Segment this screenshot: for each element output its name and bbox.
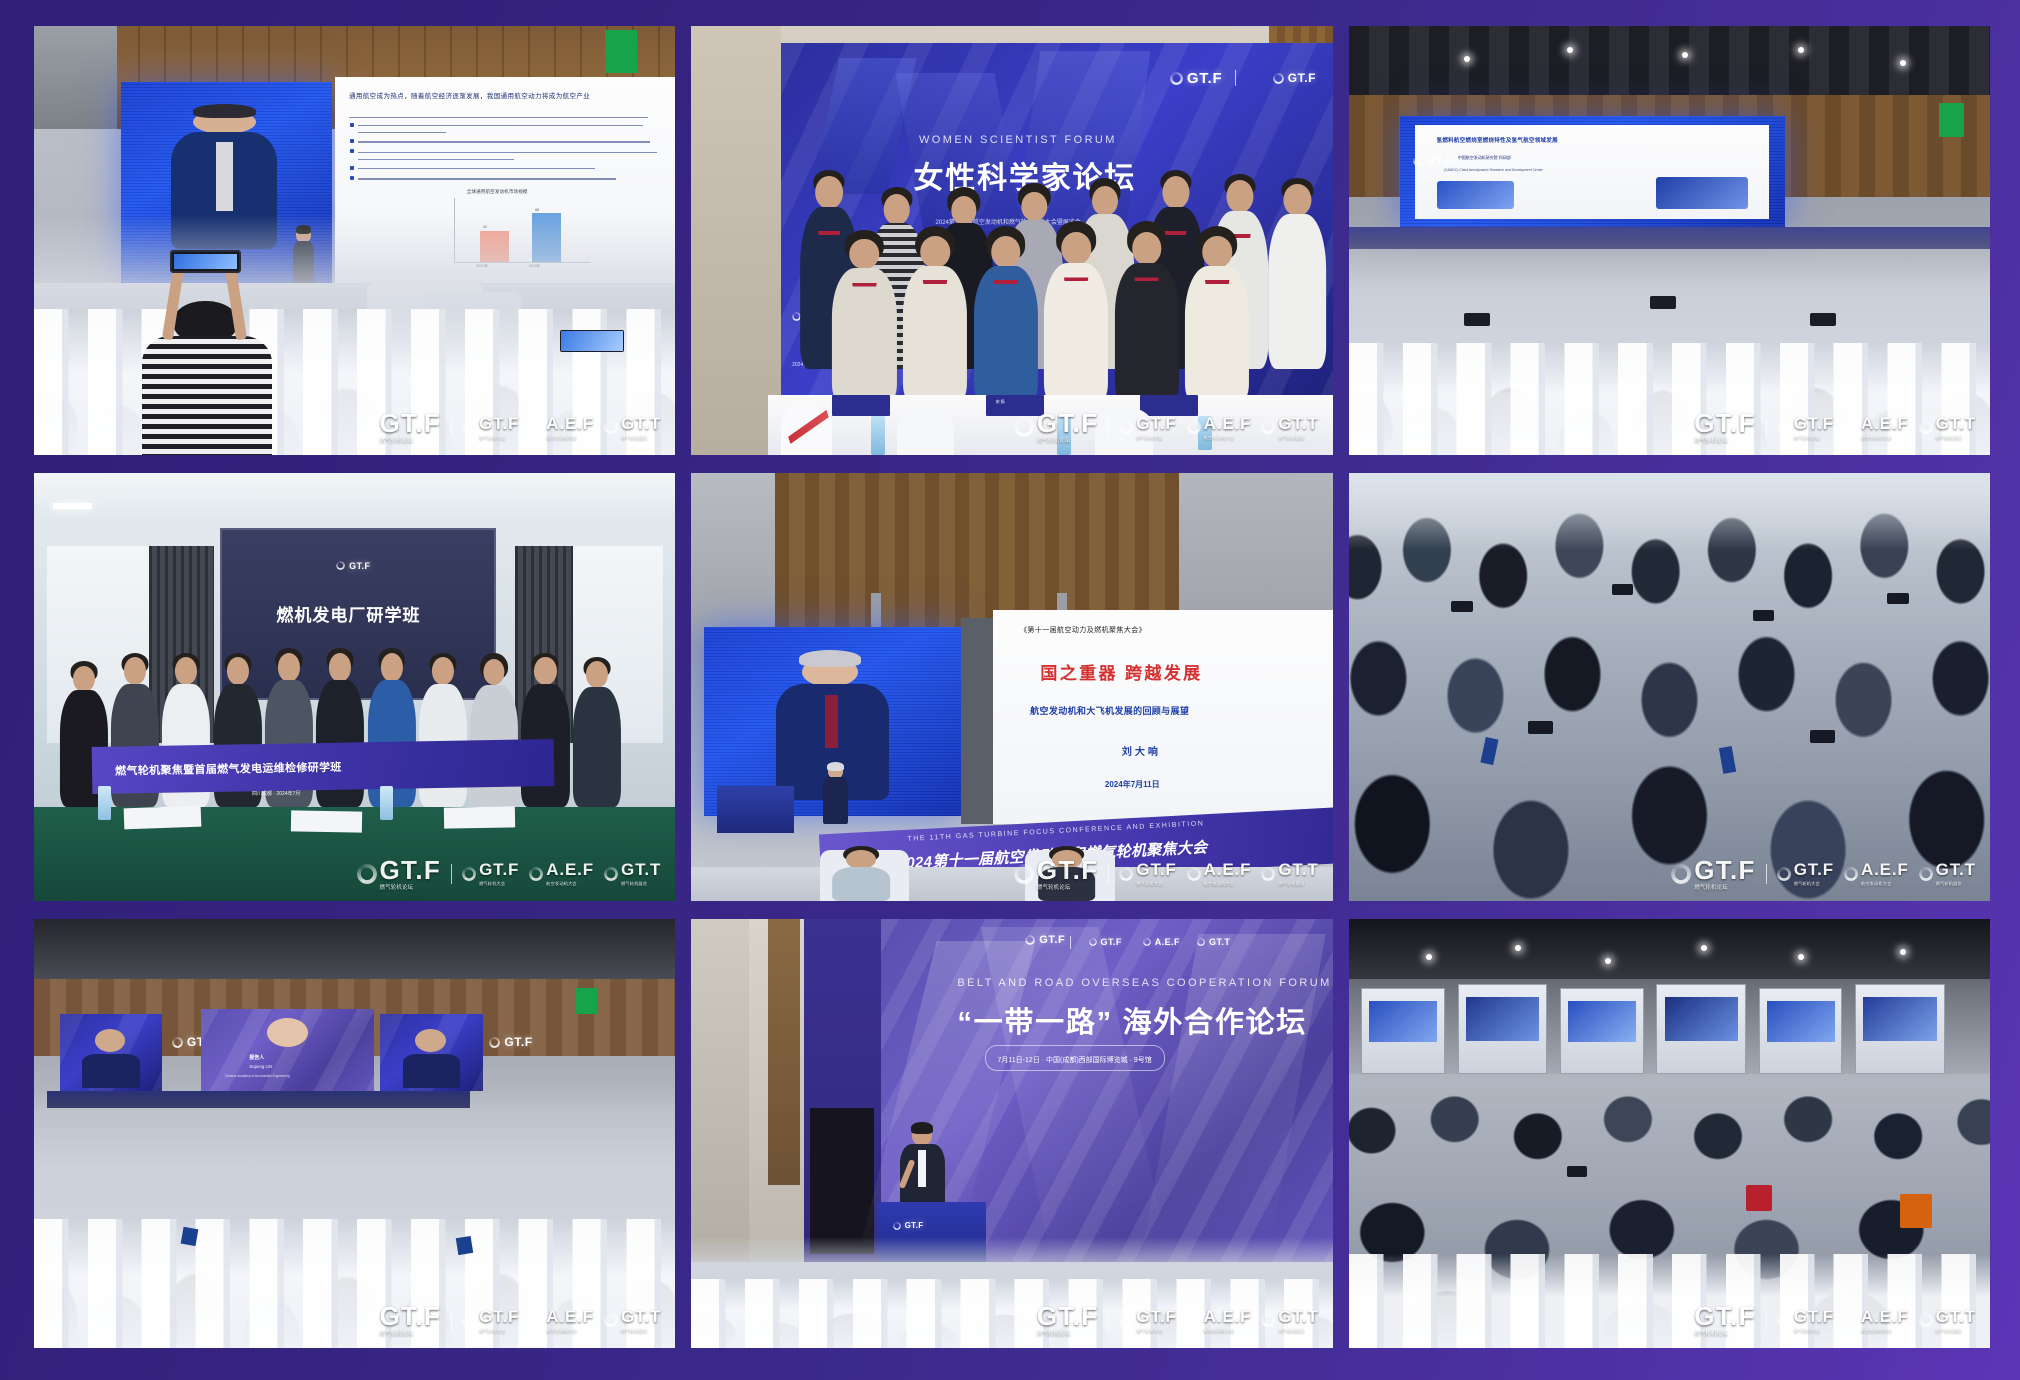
logo-subtext: 燃气轮机大会 — [479, 1329, 519, 1333]
logo-gtt: GT.T 燃气轮机展览 — [604, 861, 661, 886]
gtt-swoosh-icon — [1261, 867, 1275, 881]
logo-subtext: 燃气轮机展览 — [1936, 436, 1976, 440]
logo-subtext: 燃气轮机论坛 — [1694, 886, 1756, 891]
logo-gtt: GT.T 燃气轮机展览 — [1261, 415, 1318, 440]
photo-tile-7[interactable]: GT.F 报告人 Supeng LIN Chinese Academy of A… — [34, 919, 675, 1348]
slide-latin-line: (CAMDC) China Aerodynamic Research and D… — [1444, 168, 1543, 172]
aef-swoosh-icon — [1844, 1313, 1858, 1327]
logo-text: GT.T — [621, 860, 661, 879]
speaker-affiliation: Chinese Academy of Aeronautics Engineeri… — [225, 1074, 290, 1078]
logo-subtext: 燃气轮机大会 — [1136, 1329, 1176, 1333]
logo-subtext: 燃气轮机大会 — [1136, 882, 1176, 886]
logo-divider — [1108, 1311, 1109, 1331]
logo-subtext: 燃气轮机论坛 — [1037, 1332, 1099, 1337]
gtf-swoosh-icon — [357, 417, 377, 437]
podium — [717, 786, 794, 833]
group-person-front — [903, 227, 967, 403]
phone-screen — [560, 330, 624, 351]
led-logo: GT.F — [1413, 155, 1453, 167]
logo-subtext: 燃气轮机论坛 — [1037, 439, 1099, 444]
phone-screen — [1887, 593, 1909, 604]
poster-board — [1458, 984, 1548, 1074]
backdrop-logo-gtf: GT.F — [1025, 934, 1065, 946]
document — [444, 806, 515, 829]
phone-screen — [170, 250, 241, 274]
logo-subtext: 燃气轮机论坛 — [1694, 1332, 1756, 1337]
gtf-swoosh-icon — [357, 1311, 377, 1331]
logo-text: GT.F — [1288, 71, 1316, 85]
phone-screen — [1528, 721, 1552, 734]
logo-text: GT.F — [1039, 934, 1065, 946]
slide-subtitle: 中国航空发动机研究院 科研部 — [1458, 155, 1511, 161]
logo-gtf-primary: GT.F 燃气轮机论坛 — [1671, 410, 1756, 444]
logo-aef: A.E.F 航空发动机大会 — [529, 1308, 594, 1333]
nameplate — [832, 395, 890, 416]
slide-speaker: 刘大响 — [1122, 743, 1161, 758]
logo-text: GT.F — [1794, 1307, 1834, 1326]
gtf-swoosh-icon — [1777, 867, 1791, 881]
keynote-slide: 《第十一届航空动力及燃机聚焦大会》 国之重器 跨越发展 航空发动机和大飞机发展的… — [993, 610, 1333, 824]
logo-gtf: GT.F 燃气轮机大会 — [462, 1308, 519, 1333]
logo-subtext: 燃气轮机大会 — [479, 436, 519, 440]
logo-divider — [1766, 1311, 1767, 1331]
slide-heading: 通用航空成为热点，随着航空经济逐渐发展，我国通用航空动力将成为航空产业 — [349, 90, 590, 100]
logo-subtext: 燃气轮机大会 — [1794, 436, 1834, 440]
forum-meta-pill: 7月11日-12日 · 中国(成都)西部国际博览城 · 9号馆 — [985, 1045, 1165, 1071]
logo-text: GT.F — [1136, 414, 1176, 433]
logo-aef: A.E.F 航空发动机大会 — [1844, 415, 1909, 440]
logo-gtf: GT.F 燃气轮机大会 — [1119, 1308, 1176, 1333]
logo-gtt: GT.T 燃气轮机展览 — [1919, 861, 1976, 886]
logo-divider — [451, 1311, 452, 1331]
backdrop-logo-gtf-2: GT.F — [1089, 937, 1122, 947]
photo-3-scene: 氢燃料航空燃烧室燃烧特性及氢气航空领域发展 中国航空发动机研究院 科研部 (CA… — [1349, 26, 1990, 455]
poster-board — [1759, 988, 1842, 1074]
logo-text: GT.F — [1427, 155, 1453, 167]
logo-aef: A.E.F 航空发动机大会 — [1187, 415, 1252, 440]
lanyard-badge — [180, 1227, 198, 1247]
logo-text: GT.T — [1936, 860, 1976, 879]
group-person — [573, 657, 621, 807]
logo-text: GT.F — [349, 561, 370, 571]
gtf-swoosh-icon — [462, 867, 476, 881]
logo-text: GT.T — [1936, 1307, 1976, 1326]
photo-9-scene — [1349, 919, 1990, 1348]
gtf-swoosh-icon — [1014, 417, 1034, 437]
logo-subtext: 燃气轮机展览 — [621, 882, 661, 886]
photo-tile-3[interactable]: 氢燃料航空燃烧室燃烧特性及氢气航空领域发展 中国航空发动机研究院 科研部 (CA… — [1349, 26, 1990, 455]
logo-gtf-primary: GT.F 燃气轮机论坛 — [1014, 410, 1099, 444]
logo-gtt: GT.T 燃气轮机展览 — [1261, 861, 1318, 886]
led-logo: GT.F — [489, 1035, 532, 1049]
attendee-bag — [1746, 1185, 1772, 1211]
logo-subtext: 燃气轮机大会 — [1794, 1329, 1834, 1333]
logo-aef: A.E.F 航空发动机大会 — [529, 861, 594, 886]
logo-aef: A.E.F 航空发动机大会 — [1187, 1308, 1252, 1333]
logo-text: GT.F — [1694, 1301, 1756, 1331]
logo-subtext: 航空发动机大会 — [546, 882, 594, 886]
logo-text: GT.F — [380, 1301, 442, 1331]
backdrop-logo-gtf: GT.F — [1170, 70, 1223, 87]
banner-title: 燃气轮机聚焦暨首届燃气发电运维检修研学班 — [92, 758, 342, 778]
backdrop-logo-gtf-2: GT.F — [1273, 71, 1316, 85]
speaker-name-cn: 报告人 — [249, 1054, 264, 1061]
slide-bracket-title: 《第十一届航空动力及燃机聚焦大会》 — [1020, 625, 1146, 635]
logo-text: A.E.F — [546, 414, 594, 433]
poster-board — [1560, 988, 1643, 1074]
logo-subtext: 航空发动机大会 — [1204, 436, 1252, 440]
stage-speaker — [820, 764, 852, 824]
logo-text: A.E.F — [1861, 1307, 1909, 1326]
slide-date: 2024年7月11日 — [1105, 779, 1160, 790]
aef-swoosh-icon — [1844, 867, 1858, 881]
wall-panel — [691, 26, 781, 455]
gtf-swoosh-icon — [1014, 864, 1034, 884]
watermark-logos: GT.F 燃气轮机论坛 GT.F 燃气轮机大会 A.E.F 航空发动机大会 GT… — [357, 857, 662, 891]
led-right — [380, 1014, 483, 1091]
gtf-swoosh-icon — [1119, 420, 1133, 434]
logo-subtext: 燃气轮机论坛 — [380, 1332, 442, 1337]
photo-4-scene: GT.F 燃机发电厂研学班 — [34, 473, 675, 902]
watermark-logos: GT.F 燃气轮机论坛 GT.F 燃气轮机大会 A.E.F 航空发动机大会 GT… — [1014, 857, 1319, 891]
gtt-swoosh-icon — [1919, 420, 1933, 434]
photo-tile-2[interactable]: GT.F GT.F WOMEN SCIENTIST FORUM 女性科学家论坛 … — [691, 26, 1332, 455]
logo-divider — [1766, 864, 1767, 884]
podium-logo: GT.F — [893, 1221, 924, 1230]
backdrop-logo-gtt: GT.T — [1197, 937, 1230, 947]
backdrop-logo-aef: A.E.F — [1143, 937, 1180, 947]
group-person-front — [832, 232, 896, 403]
aef-swoosh-icon — [1187, 420, 1201, 434]
gtf-swoosh-icon — [1671, 864, 1691, 884]
gtf-swoosh-icon — [1119, 867, 1133, 881]
nameplate-text: 宋 扬 — [996, 399, 1005, 405]
logo-subtext: 燃气轮机展览 — [1278, 882, 1318, 886]
logo-subtext: 燃气轮机展览 — [1278, 436, 1318, 440]
logo-gtt: GT.T 燃气轮机展览 — [1261, 1308, 1318, 1333]
logo-gtf-primary: GT.F 燃气轮机论坛 — [1014, 1303, 1099, 1337]
gtf-swoosh-icon — [462, 1313, 476, 1327]
logo-text: A.E.F — [1861, 414, 1909, 433]
group-person-front — [974, 227, 1038, 403]
logo-text: GT.F — [1136, 860, 1176, 879]
logo-gtf: GT.F 燃气轮机大会 — [1119, 861, 1176, 886]
phone-screen — [1650, 296, 1676, 309]
logo-text: GT.F — [380, 855, 442, 885]
logo-subtext: 燃气轮机论坛 — [380, 439, 442, 444]
phone-screen — [1451, 601, 1473, 612]
water-bottle — [380, 786, 393, 820]
logo-subtext: 燃气轮机展览 — [621, 1329, 661, 1333]
aef-swoosh-icon — [1187, 867, 1201, 881]
logo-gtt: GT.T 燃气轮机展览 — [604, 415, 661, 440]
logo-text: GT.F — [1187, 70, 1223, 87]
logo-gtt: GT.T 燃气轮机展览 — [604, 1308, 661, 1333]
logo-subtext: 航空发动机大会 — [1861, 1329, 1909, 1333]
gtt-swoosh-icon — [604, 1313, 618, 1327]
photo-5-scene: GT.F 《第十一届航空动力及燃机聚焦大会》 国之重器 跨越发展 航空发动机和大… — [691, 473, 1332, 902]
logo-divider — [1070, 936, 1071, 949]
wall-panel — [34, 26, 117, 129]
ceiling — [34, 919, 675, 979]
photo-8-scene: GT.F GT.F A.E.F GT.T BELT AND ROAD OVERS… — [691, 919, 1332, 1348]
back-wall-fade — [1349, 473, 1990, 550]
logo-subtext: 燃气轮机展览 — [1936, 882, 1976, 886]
slide-headline: 国之重器 跨越发展 — [1040, 659, 1202, 684]
ceiling — [34, 473, 675, 524]
phone-screen — [1753, 610, 1775, 621]
logo-subtext: 航空发动机大会 — [546, 1329, 594, 1333]
attendee-filming — [137, 257, 278, 454]
logo-subtext: 燃气轮机论坛 — [380, 886, 442, 891]
logo-aef: A.E.F 航空发动机大会 — [1187, 861, 1252, 886]
logo-gtf: GT.F 燃气轮机大会 — [462, 415, 519, 440]
gtt-swoosh-icon — [1197, 938, 1205, 946]
logo-text: GT.F — [479, 1307, 519, 1326]
logo-text: GT.T — [621, 1307, 661, 1326]
water-bottle — [871, 416, 885, 455]
logo-text: GT.F — [1794, 860, 1834, 879]
logo-text: GT.F — [380, 408, 442, 438]
wood-column — [768, 919, 800, 1185]
logo-divider — [1108, 417, 1109, 437]
poster-board — [1855, 984, 1945, 1074]
logo-text: GT.T — [1936, 414, 1976, 433]
chart-value-2: 68 — [535, 208, 539, 212]
gtf-swoosh-icon — [462, 420, 476, 434]
watermark-logos: GT.F 燃气轮机论坛 GT.F 燃气轮机大会 A.E.F 航空发动机大会 GT… — [1671, 857, 1976, 891]
group-person-front — [1115, 223, 1179, 403]
logo-gtf-primary: GT.F 燃气轮机论坛 — [1671, 857, 1756, 891]
watermark-logos: GT.F 燃气轮机论坛 GT.F 燃气轮机大会 A.E.F 航空发动机大会 GT… — [357, 1303, 662, 1337]
phone-screen — [1810, 730, 1834, 743]
screen-logo: GT.F — [336, 561, 370, 571]
lanyard-badge — [456, 1235, 474, 1254]
logo-gtf: GT.F 燃气轮机大会 — [1777, 415, 1834, 440]
logo-gtf-primary: GT.F 燃气轮机论坛 — [357, 410, 442, 444]
logo-text: A.E.F — [1861, 860, 1909, 879]
gtt-swoosh-icon — [1261, 1313, 1275, 1327]
slide-subline: 航空发动机和大飞机发展的回顾与展望 — [1030, 704, 1189, 717]
logo-text: GT.T — [1278, 860, 1318, 879]
logo-gtf-primary: GT.F 燃气轮机论坛 — [1671, 1303, 1756, 1337]
led-wall: 氢燃料航空燃烧室燃烧特性及氢气航空领域发展 中国航空发动机研究院 科研部 (CA… — [1400, 116, 1785, 227]
exit-sign — [605, 30, 637, 73]
gtf-swoosh-icon — [1025, 935, 1035, 945]
aef-swoosh-icon — [529, 1313, 543, 1327]
gtf-swoosh-icon — [489, 1037, 500, 1048]
banner-subtitle: 四川成都 · 2024年7月 — [252, 790, 300, 797]
photo-tile-1[interactable]: 通用航空成为热点，随着航空经济逐渐发展，我国通用航空动力将成为航空产业 全球通用… — [34, 26, 675, 455]
exit-sign — [576, 988, 598, 1014]
slide-heading: 氢燃料航空燃烧室燃烧特性及氢气航空领域发展 — [1437, 136, 1558, 144]
logo-text: GT.T — [1278, 414, 1318, 433]
logo-subtext: 燃气轮机大会 — [1136, 436, 1176, 440]
logo-gtf-primary: GT.F 燃气轮机论坛 — [1014, 857, 1099, 891]
photo-collage-grid: 通用航空成为热点，随着航空经济逐渐发展，我国通用航空动力将成为航空产业 全球通用… — [0, 0, 2020, 1380]
logo-text: A.E.F — [546, 1307, 594, 1326]
phone-screen — [1464, 313, 1490, 326]
logo-subtext: 燃气轮机展览 — [1936, 1329, 1976, 1333]
aef-swoosh-icon — [1187, 1313, 1201, 1327]
group-person — [1269, 180, 1327, 369]
watermark-logos: GT.F 燃气轮机论坛 GT.F 燃气轮机大会 A.E.F 航空发动机大会 GT… — [1014, 1303, 1319, 1337]
logo-text: GT.F — [1694, 855, 1756, 885]
screen-gap-pillar — [961, 618, 993, 824]
logo-subtext: 航空发动机大会 — [546, 436, 594, 440]
photo-tile-9[interactable]: GT.F 燃气轮机论坛 GT.F 燃气轮机大会 A.E.F 航空发动机大会 GT… — [1349, 919, 1990, 1348]
logo-gtf: GT.F 燃气轮机大会 — [462, 861, 519, 886]
logo-text: GT.F — [504, 1035, 532, 1049]
poster-board — [1361, 988, 1444, 1074]
ceiling-grid — [1349, 26, 1990, 95]
attendee-bag — [1900, 1194, 1932, 1228]
logo-subtext: 燃气轮机大会 — [1794, 882, 1834, 886]
gtt-swoosh-icon — [604, 420, 618, 434]
logo-gtf-primary: GT.F 燃气轮机论坛 — [357, 857, 442, 891]
gtf-swoosh-icon — [1777, 420, 1791, 434]
gtf-swoosh-icon — [1089, 938, 1097, 946]
gtf-swoosh-icon — [1671, 1311, 1691, 1331]
logo-text: GT.F — [479, 860, 519, 879]
aef-swoosh-icon — [1844, 420, 1858, 434]
logo-text: A.E.F — [1204, 860, 1252, 879]
gtt-swoosh-icon — [1261, 420, 1275, 434]
logo-text: A.E.F — [1204, 414, 1252, 433]
gtf-swoosh-icon — [1273, 73, 1284, 84]
aef-swoosh-icon — [529, 867, 543, 881]
ceiling — [1349, 919, 1990, 979]
gtf-swoosh-icon — [1170, 72, 1183, 85]
logo-subtext: 航空发动机大会 — [1861, 882, 1909, 886]
photo-tile-6[interactable]: GT.F 燃气轮机论坛 GT.F 燃气轮机大会 A.E.F 航空发动机大会 GT… — [1349, 473, 1990, 902]
gtt-swoosh-icon — [1919, 1313, 1933, 1327]
logo-text: GT.F — [1136, 1307, 1176, 1326]
logo-subtext: 燃气轮机展览 — [1278, 1329, 1318, 1333]
poster-board — [1656, 984, 1746, 1074]
ceiling-light — [53, 503, 91, 509]
document — [290, 811, 361, 834]
logo-text: GT.F — [1694, 408, 1756, 438]
logo-aef: A.E.F 航空发动机大会 — [1844, 861, 1909, 886]
gtf-swoosh-icon — [172, 1037, 183, 1048]
gtf-swoosh-icon — [1119, 1313, 1133, 1327]
phone-screen — [1567, 1166, 1588, 1176]
photo-7-scene: GT.F 报告人 Supeng LIN Chinese Academy of A… — [34, 919, 675, 1348]
photo-tile-4[interactable]: GT.F 燃机发电厂研学班 — [34, 473, 675, 902]
gtf-swoosh-icon — [357, 864, 377, 884]
forum-latin-title: WOMEN SCIENTIST FORUM — [919, 134, 1117, 146]
audience-member — [832, 846, 890, 902]
logo-gtf: GT.F 燃气轮机大会 — [1777, 861, 1834, 886]
logo-aef: A.E.F 航空发动机大会 — [529, 415, 594, 440]
logo-text: GT.F — [479, 414, 519, 433]
logo-gtf: GT.F 燃气轮机大会 — [1119, 415, 1176, 440]
watermark-logos: GT.F 燃气轮机论坛 GT.F 燃气轮机大会 A.E.F 航空发动机大会 GT… — [357, 410, 662, 444]
logo-subtext: 燃气轮机论坛 — [1694, 439, 1756, 444]
logo-gtf: GT.F 燃气轮机大会 — [1777, 1308, 1834, 1333]
logo-text: A.E.F — [1155, 937, 1180, 947]
logo-text: GT.F — [1037, 855, 1099, 885]
logo-gtt: GT.T 燃气轮机展览 — [1919, 415, 1976, 440]
phone-screen — [1810, 313, 1836, 326]
logo-divider — [1235, 70, 1236, 86]
logo-gtt: GT.T 燃气轮机展览 — [1919, 1308, 1976, 1333]
group-person-front — [1185, 227, 1249, 403]
aef-swoosh-icon — [1143, 938, 1151, 946]
forum-latin-title: BELT AND ROAD OVERSEAS COOPERATION FORUM — [957, 977, 1331, 989]
led-center: 报告人 Supeng LIN Chinese Academy of Aerona… — [201, 1009, 374, 1095]
logo-subtext: 燃气轮机论坛 — [1037, 886, 1099, 891]
forum-meta: 7月11日-12日 · 中国(成都)西部国际博览城 · 9号馆 — [998, 1057, 1152, 1064]
photo-6-scene — [1349, 473, 1990, 902]
logo-text: GT.F — [1794, 414, 1834, 433]
gtf-swoosh-icon — [1413, 156, 1423, 166]
gtf-swoosh-icon — [336, 561, 345, 570]
logo-text: GT.T — [621, 414, 661, 433]
logo-subtext: 燃气轮机大会 — [479, 882, 519, 886]
logo-text: GT.T — [1278, 1307, 1318, 1326]
chair-cover — [897, 408, 955, 455]
exit-sign — [1939, 103, 1965, 137]
watermark-logos: GT.F 燃气轮机论坛 GT.F 燃气轮机大会 A.E.F 航空发动机大会 GT… — [1671, 410, 1976, 444]
water-bottle — [98, 786, 111, 820]
logo-subtext: 航空发动机大会 — [1204, 1329, 1252, 1333]
phone-screen — [1612, 584, 1634, 595]
photo-2-scene: GT.F GT.F WOMEN SCIENTIST FORUM 女性科学家论坛 … — [691, 26, 1332, 455]
led-left — [60, 1014, 163, 1091]
gtf-swoosh-icon — [893, 1222, 901, 1230]
gtf-swoosh-icon — [1671, 417, 1691, 437]
photo-tile-8[interactable]: GT.F GT.F A.E.F GT.T BELT AND ROAD OVERS… — [691, 919, 1332, 1348]
logo-subtext: 航空发动机大会 — [1204, 882, 1252, 886]
logo-text: GT.F — [1101, 937, 1122, 947]
logo-text: GT.F — [1037, 408, 1099, 438]
gtt-swoosh-icon — [1919, 867, 1933, 881]
speaker-name-en: Supeng LIN — [249, 1064, 272, 1069]
wood-wall — [775, 473, 1179, 627]
slide-area: 氢燃料航空燃烧室燃烧特性及氢气航空领域发展 中国航空发动机研究院 科研部 (CA… — [1415, 125, 1769, 219]
gtf-swoosh-icon — [1014, 1311, 1034, 1331]
logo-subtext: 燃气轮机展览 — [621, 436, 661, 440]
gtf-swoosh-icon — [1777, 1313, 1791, 1327]
logo-text: GT.F — [1037, 1301, 1099, 1331]
watermark-logos: GT.F 燃气轮机论坛 GT.F 燃气轮机大会 A.E.F 航空发动机大会 GT… — [1671, 1303, 1976, 1337]
gtt-swoosh-icon — [604, 867, 618, 881]
logo-text: A.E.F — [546, 860, 594, 879]
class-banner: 燃气轮机聚焦暨首届燃气发电运维检修研学班 — [91, 739, 554, 794]
logo-divider — [1766, 417, 1767, 437]
aef-swoosh-icon — [529, 420, 543, 434]
logo-text: GT.T — [1209, 937, 1230, 947]
logo-text: A.E.F — [1204, 1307, 1252, 1326]
group-person-front — [1044, 223, 1108, 403]
chart-title: 全球通用航空发动机市场规模 — [467, 189, 528, 195]
photo-1-scene: 通用航空成为热点，随着航空经济逐渐发展，我国通用航空动力将成为航空产业 全球通用… — [34, 26, 675, 455]
logo-subtext: 航空发动机大会 — [1861, 436, 1909, 440]
logo-gtf-primary: GT.F 燃气轮机论坛 — [357, 1303, 442, 1337]
document — [123, 806, 201, 830]
watermark-logos: GT.F 燃气轮机论坛 GT.F 燃气轮机大会 A.E.F 航空发动机大会 GT… — [1014, 410, 1319, 444]
logo-aef: A.E.F 航空发动机大会 — [1844, 1308, 1909, 1333]
logo-divider — [451, 864, 452, 884]
logo-divider — [1108, 864, 1109, 884]
projection-title: 燃机发电厂研学班 — [276, 601, 420, 626]
wall-panel — [691, 473, 774, 644]
logo-text: GT.F — [905, 1221, 924, 1230]
photo-tile-5[interactable]: GT.F 《第十一届航空动力及燃机聚焦大会》 国之重器 跨越发展 航空发动机和大… — [691, 473, 1332, 902]
forum-cn-title: “一带一路” 海外合作论坛 — [957, 999, 1307, 1041]
